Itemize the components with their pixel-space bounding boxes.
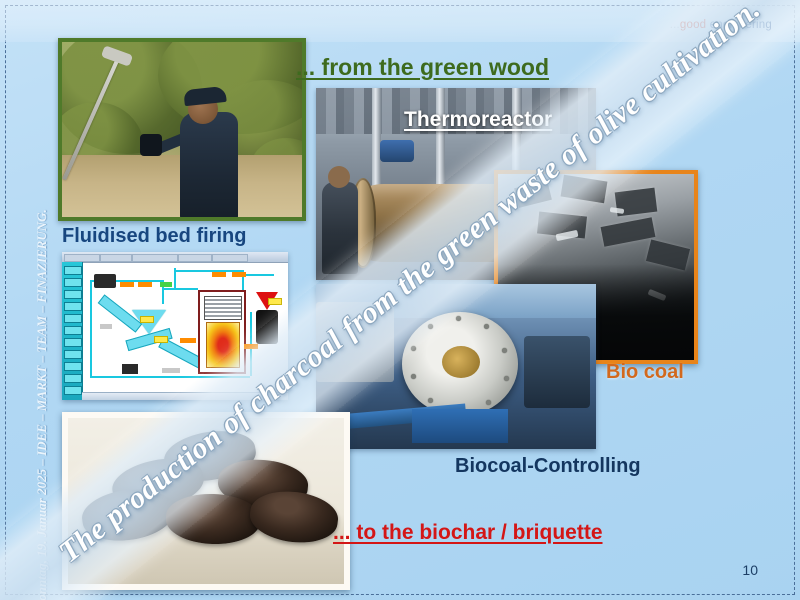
process-pipe	[162, 288, 198, 290]
scada-menu-item	[178, 254, 212, 262]
storage-tank	[256, 310, 278, 344]
blue-support-frame	[412, 409, 508, 443]
disc-bolt	[486, 400, 491, 405]
biocoal-controlling-content	[316, 284, 596, 449]
disc-bolt	[428, 324, 433, 329]
reactor-flame-indicator	[206, 322, 240, 368]
process-pipe	[90, 376, 250, 378]
scada-menu-item	[132, 254, 178, 262]
technician-figure	[322, 182, 358, 274]
fluidised-bed-reactor	[198, 290, 246, 374]
briquettes-photo-content	[68, 418, 344, 584]
label-fluidised-bed-firing: Fluidised bed firing	[62, 225, 246, 248]
disc-bolt	[411, 346, 416, 351]
brand-dots: ...	[670, 19, 680, 31]
value-tag	[244, 344, 258, 349]
technician-head	[328, 166, 350, 188]
biocoal-controlling-photo	[316, 284, 596, 449]
scada-menu-item	[212, 254, 248, 262]
scada-diagram-content	[62, 252, 288, 400]
vertical-pipe	[372, 88, 381, 188]
scada-toolbar-button	[64, 266, 82, 275]
scada-statusbar	[82, 392, 288, 400]
slide-number: 10	[742, 562, 758, 578]
scada-toolbar-button	[64, 362, 82, 371]
value-tag	[162, 368, 180, 373]
brand-engineering-text: engineering	[710, 19, 772, 31]
blue-valve	[380, 140, 414, 162]
label-biochar-briquette: ... to the biochar / briquette	[333, 521, 603, 545]
scada-toolbar	[62, 262, 83, 400]
disc-bolt	[456, 316, 461, 321]
value-tag	[212, 272, 226, 277]
reactor-heat-exchanger	[204, 296, 242, 320]
scada-menu-item	[100, 254, 132, 262]
label-biocoal-controlling: Biocoal-Controlling	[455, 455, 641, 478]
value-tag	[154, 336, 168, 343]
scada-toolbar-button	[64, 302, 82, 311]
brand-logo: ...good engineering	[670, 19, 772, 31]
disc-bolt	[504, 376, 509, 381]
disc-bolt	[502, 348, 507, 353]
value-tag	[160, 282, 172, 287]
label-bio-coal: Bio coal	[606, 361, 684, 384]
value-tag	[138, 282, 152, 287]
brand-good-text: good	[680, 19, 706, 31]
olive-harvesting-photo	[58, 38, 306, 221]
scada-toolbar-button	[64, 314, 82, 323]
charcoal-briquettes-photo	[62, 412, 350, 590]
scada-diagram-image	[62, 252, 288, 400]
value-tag	[140, 316, 154, 323]
disc-bolt	[411, 374, 416, 379]
scada-toolbar-button	[64, 350, 82, 359]
scada-toolbar-button	[64, 374, 82, 383]
value-tag	[100, 324, 112, 329]
worker-handheld-tool	[140, 134, 162, 156]
disc-bolt	[484, 324, 489, 329]
blower-unit	[122, 364, 138, 374]
scada-toolbar-button	[64, 278, 82, 287]
scada-toolbar-button	[64, 326, 82, 335]
value-tag	[268, 298, 282, 305]
process-tank	[316, 302, 394, 382]
disc-center-hub	[442, 346, 480, 378]
scada-toolbar-button	[64, 338, 82, 347]
value-tag	[180, 338, 196, 343]
disc-bolt	[428, 398, 433, 403]
scada-titlebar	[62, 252, 288, 263]
presentation-slide: ...good engineering Sonntag, 19. Januar …	[0, 0, 800, 600]
worker-body	[180, 112, 238, 220]
value-tag	[120, 282, 134, 287]
label-green-wood: ... from the green wood	[296, 54, 549, 81]
feed-machine	[94, 274, 116, 288]
label-thermoreactor: Thermoreactor	[404, 108, 552, 132]
value-tag	[232, 272, 246, 277]
scada-toolbar-button	[64, 290, 82, 299]
process-pipe	[242, 274, 274, 276]
vertical-footer-text: Sonntag, 19. Januar 2025 – IDEE – MARKT …	[34, 8, 50, 600]
scada-toolbar-button	[64, 386, 82, 395]
olive-photo-content	[62, 42, 302, 217]
auxiliary-machinery	[524, 336, 590, 408]
scada-menu-item	[64, 254, 100, 262]
process-pipe	[90, 280, 92, 376]
